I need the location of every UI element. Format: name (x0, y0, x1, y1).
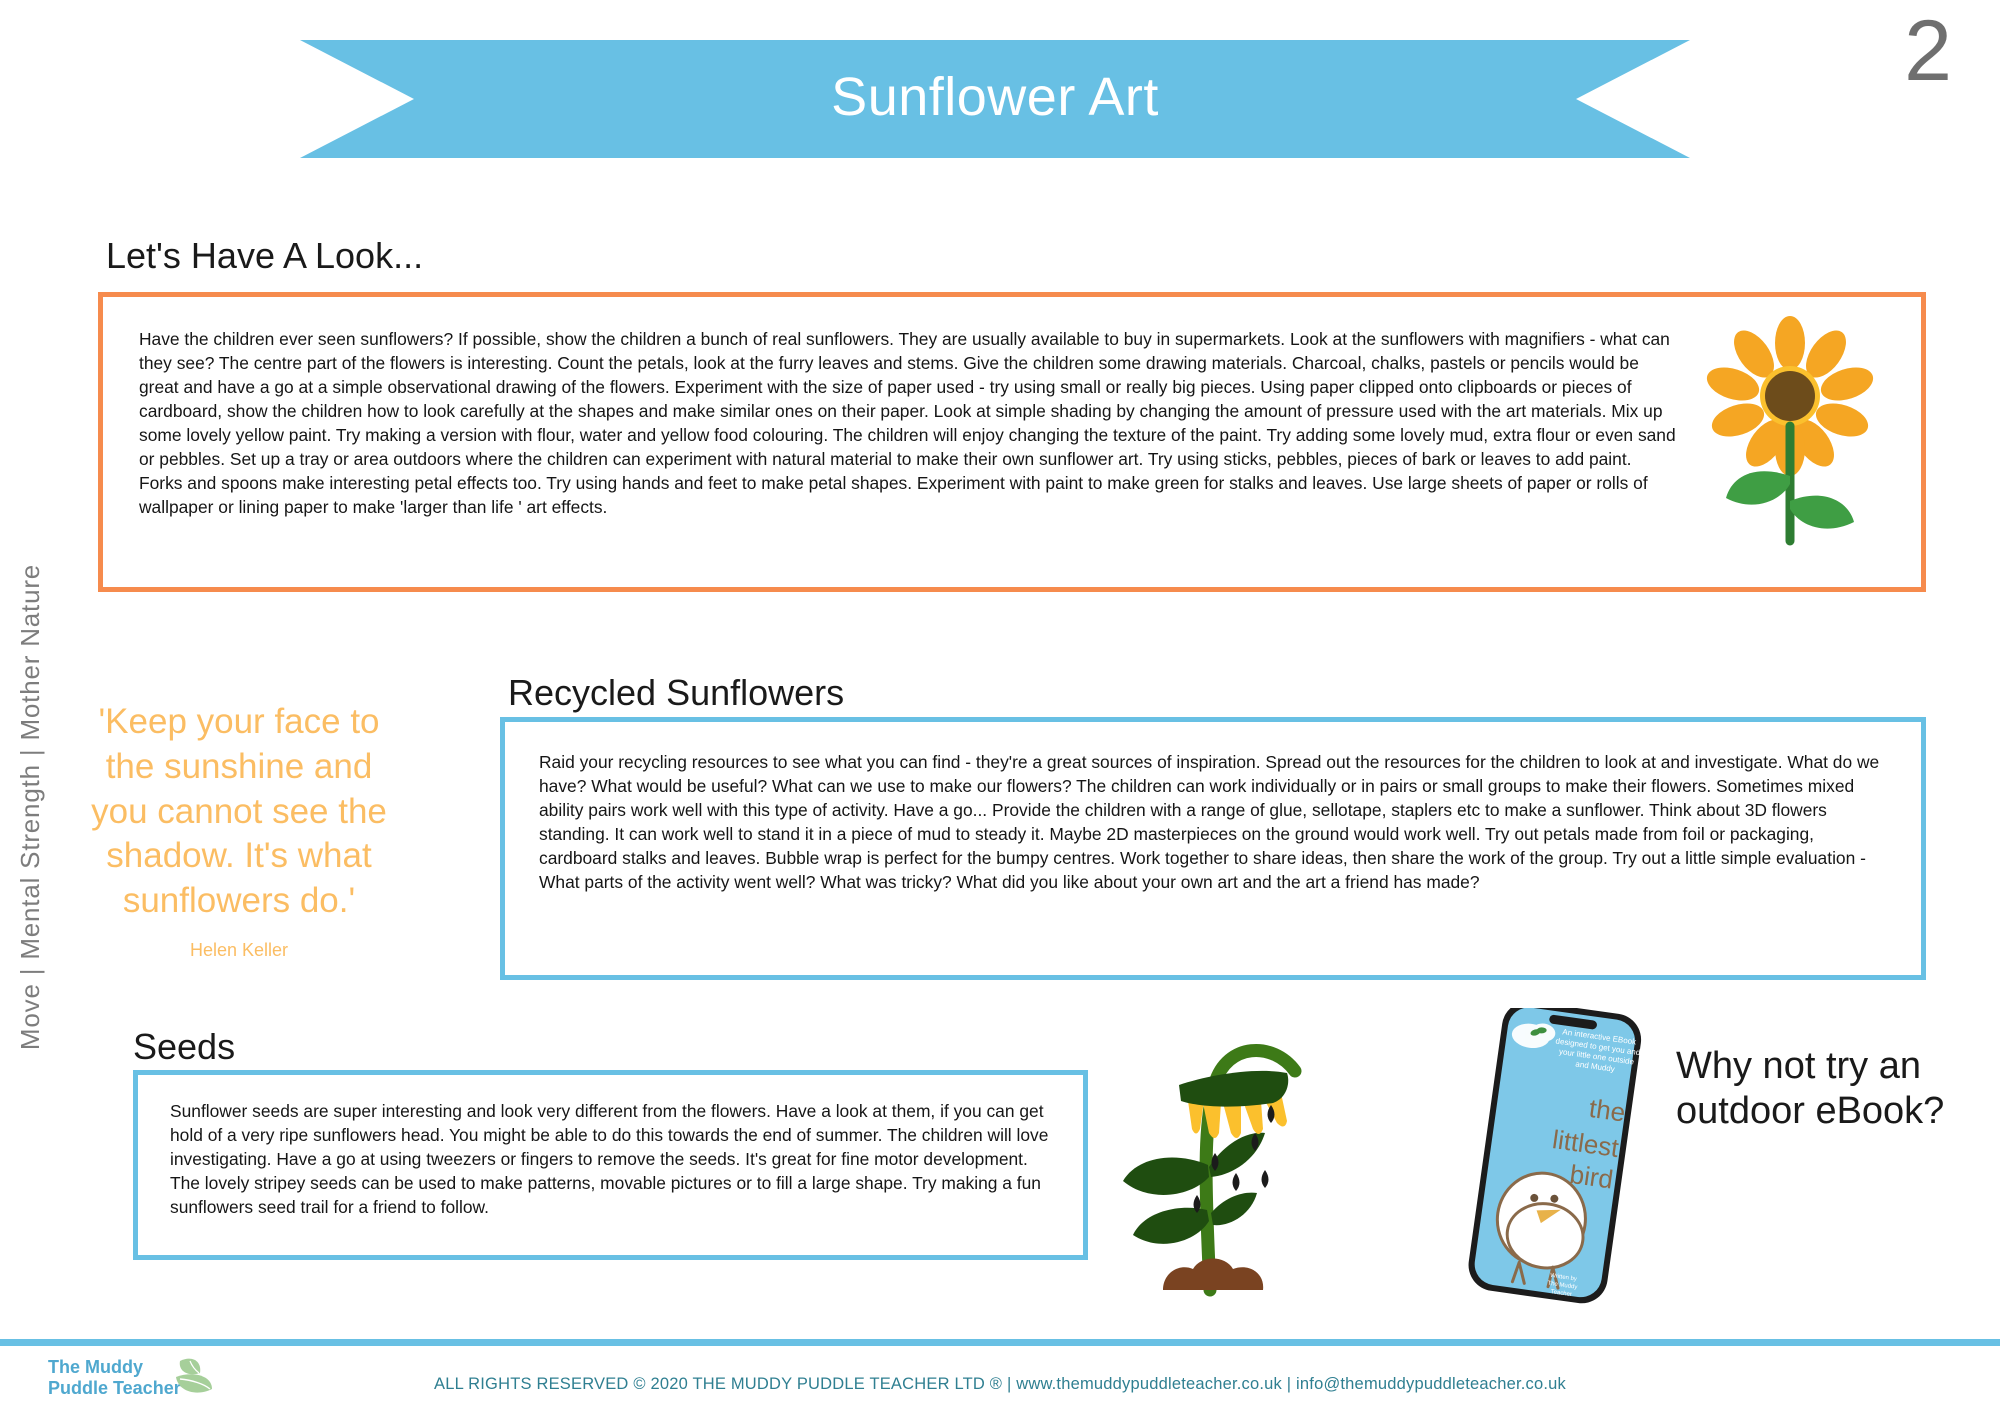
content-box-recycled: Raid your recycling resources to see wha… (500, 717, 1926, 980)
section-heading-seeds: Seeds (133, 1029, 235, 1065)
title-banner-shape: Sunflower Art (300, 40, 1690, 158)
content-box-look: Have the children ever seen sunflowers? … (98, 292, 1926, 592)
sunflower-icon (1700, 316, 1880, 546)
footer-divider (0, 1339, 2000, 1346)
vertical-strand-label: Move | Mental Strength | Mother Nature (0, 0, 60, 1414)
section-heading-look: Let's Have A Look... (106, 238, 423, 274)
quote-text: 'Keep your face to the sunshine and you … (74, 700, 404, 924)
inspirational-quote: 'Keep your face to the sunshine and you … (74, 700, 404, 961)
worksheet-page: Move | Mental Strength | Mother Nature S… (0, 0, 2000, 1414)
section-body-recycled: Raid your recycling resources to see wha… (539, 750, 1887, 894)
ebook-phone-mockup: An interactive EBook designed to get you… (1432, 1008, 1672, 1308)
section-body-seeds: Sunflower seeds are super interesting an… (170, 1099, 1060, 1219)
section-heading-recycled: Recycled Sunflowers (508, 675, 844, 711)
section-body-look: Have the children ever seen sunflowers? … (139, 327, 1679, 519)
content-box-seeds: Sunflower seeds are super interesting an… (133, 1070, 1088, 1260)
vertical-strand-label-text: Move | Mental Strength | Mother Nature (15, 564, 46, 1050)
title-banner: Sunflower Art (300, 40, 1690, 158)
ebook-promo-text: Why not try an outdoor eBook? (1676, 1044, 1976, 1134)
page-title: Sunflower Art (831, 70, 1159, 124)
quote-author: Helen Keller (74, 940, 404, 961)
page-number: 2 (1904, 8, 1952, 94)
svg-text:the: the (1587, 1093, 1627, 1128)
footer-copyright: ALL RIGHTS RESERVED © 2020 THE MUDDY PUD… (0, 1375, 2000, 1394)
drooping-sunflower-illustration (1105, 1005, 1405, 1305)
